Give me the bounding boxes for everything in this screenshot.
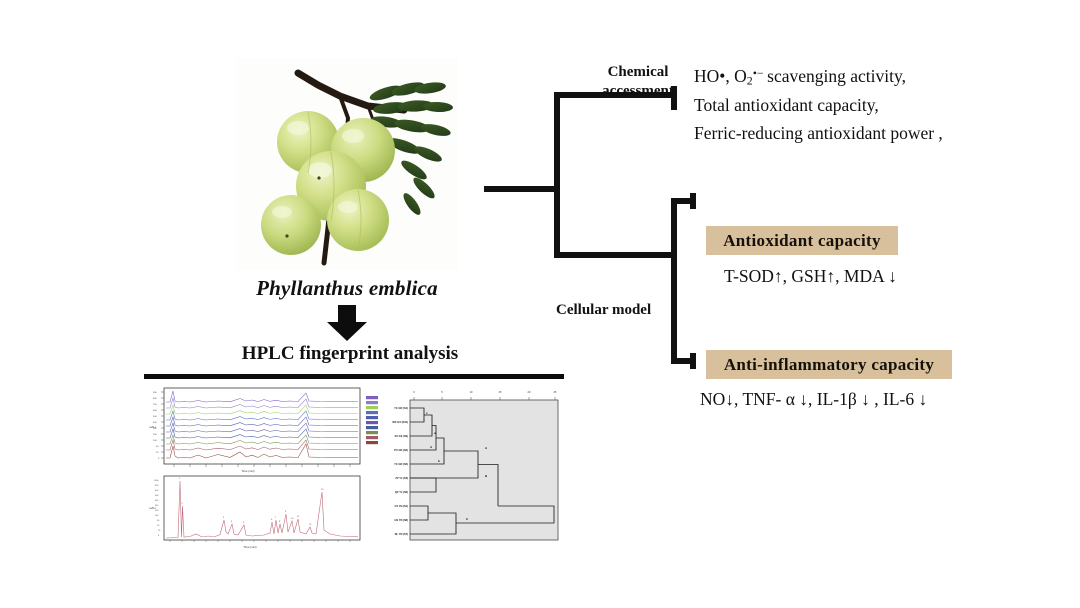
svg-text:Time (min): Time (min) xyxy=(243,545,256,549)
hplc-figure-panel: 900800700 600500400 300200100 50200 mAU xyxy=(140,374,568,556)
svg-text:YC GD (S3): YC GD (S3) xyxy=(394,462,408,466)
chemical-assessment-label: Chemical accessment xyxy=(578,63,698,101)
cluster-dendrogram-plot: 0510 152025 YC GD (S1) WZ GX (S10) XX GX… xyxy=(392,390,558,540)
svg-text:mAU: mAU xyxy=(149,506,156,510)
hplc-caption: HPLC fingerprint analysis xyxy=(200,343,500,365)
svg-text:QZ YJ (S6): QZ YJ (S6) xyxy=(395,490,408,494)
svg-text:HS YN (S8): HS YN (S8) xyxy=(394,518,408,522)
down-arrow-icon xyxy=(325,305,369,341)
svg-text:PX GD (S2): PX GD (S2) xyxy=(394,448,408,452)
chemical-item-0: HO•, O2•− scavenging activity, xyxy=(694,62,1074,91)
svg-text:d: d xyxy=(430,445,432,449)
svg-text:b: b xyxy=(438,459,440,463)
svg-text:YC GD (S1): YC GD (S1) xyxy=(394,406,408,410)
reference-chromatogram-plot: 1000800600 400300200 15010050 20100 mAU … xyxy=(149,476,360,549)
chemical-item-2: Ferric-reducing antioxidant power , xyxy=(694,119,1074,147)
svg-text:ZZ YJ (S5): ZZ YJ (S5) xyxy=(395,476,408,480)
anti-inflammatory-markers: NO↓, TNF- α ↓, IL-1β ↓ , IL-6 ↓ xyxy=(700,389,927,410)
svg-text:mAU: mAU xyxy=(149,425,156,429)
chemical-label-line1: Chemical xyxy=(578,63,698,82)
svg-text:Time (min): Time (min) xyxy=(241,469,254,473)
chemical-assessment-items: HO•, O2•− scavenging activity, Total ant… xyxy=(694,62,1074,148)
svg-text:XX GX (S9): XX GX (S9) xyxy=(394,434,408,438)
svg-text:DL YN (S7): DL YN (S7) xyxy=(395,532,408,536)
species-caption: Phyllanthus emblica xyxy=(236,276,458,301)
cellular-model-label: Cellular model xyxy=(556,302,696,319)
antioxidant-capacity-box: Antioxidant capacity xyxy=(706,226,898,255)
graphical-abstract: Phyllanthus emblica HPLC fingerprint ana… xyxy=(0,0,1080,608)
svg-text:WZ GX (S10): WZ GX (S10) xyxy=(392,420,408,424)
antioxidant-markers: T-SOD↑, GSH↑, MDA ↓ xyxy=(724,266,897,287)
svg-text:CX YN (S4): CX YN (S4) xyxy=(394,504,408,508)
chemical-label-line2: accessment xyxy=(578,82,698,101)
overlay-chromatogram-plot: 900800700 600500400 300200100 50200 mAU xyxy=(149,388,378,473)
anti-inflammatory-capacity-box: Anti-inflammatory capacity xyxy=(706,350,952,379)
chemical-item-1: Total antioxidant capacity, xyxy=(694,91,1074,119)
fruit-photo xyxy=(236,58,458,270)
